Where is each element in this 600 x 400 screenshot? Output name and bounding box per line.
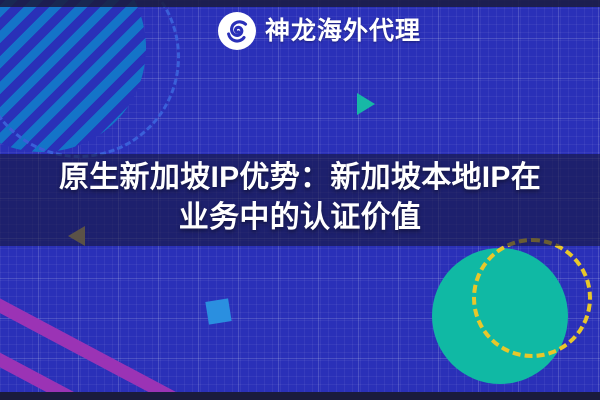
page-title: 原生新加坡IP优势：新加坡本地IP在 业务中的认证价值 [0, 158, 600, 237]
triangle-teal-icon [357, 93, 375, 115]
brand-name: 神龙海外代理 [265, 19, 421, 44]
promo-banner: 神龙海外代理 原生新加坡IP优势：新加坡本地IP在 业务中的认证价值 [0, 0, 600, 400]
brand-logo[interactable]: 神龙海外代理 [218, 12, 421, 50]
page-title-line-2: 业务中的认证价值 [14, 198, 586, 238]
dashed-circle-yellow [472, 238, 592, 358]
bottom-edge-strip [0, 392, 600, 400]
top-edge-strip [0, 0, 600, 7]
dashed-circle-left [0, 0, 180, 158]
spiral-swirl-logo-icon [218, 12, 256, 50]
page-title-line-1: 原生新加坡IP优势：新加坡本地IP在 [14, 158, 586, 198]
square-blue [205, 298, 231, 324]
